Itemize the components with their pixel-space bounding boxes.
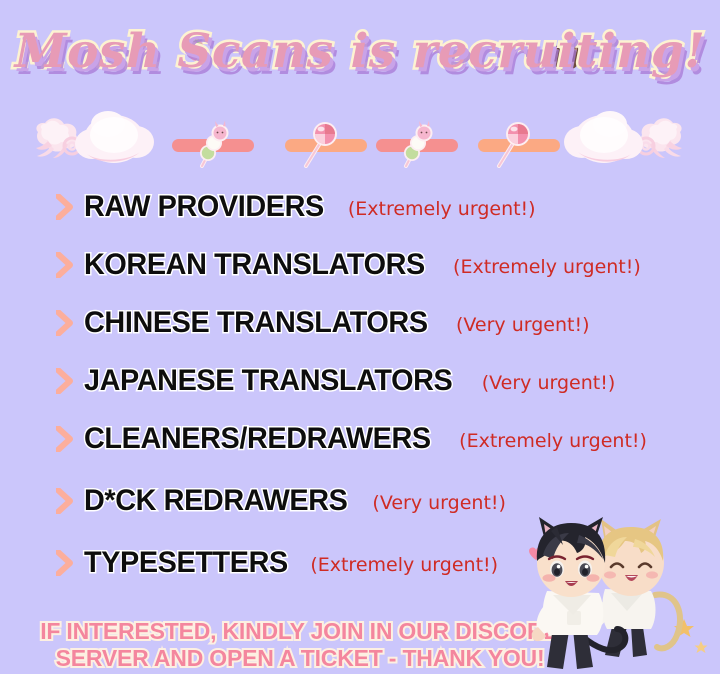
role-urgency: (Extremely urgent!)	[453, 256, 641, 278]
role-row[interactable]: D*CK REDRAWERS (Very urgent!)	[56, 480, 506, 522]
lollipop-icon	[298, 118, 342, 168]
role-label: CHINESE TRANSLATORS	[84, 306, 428, 340]
chevron-right-icon	[56, 252, 74, 278]
page-title: Mosh Scans is recruiting!	[0, 14, 720, 90]
chevron-right-icon	[56, 426, 74, 452]
role-urgency: (Very urgent!)	[372, 492, 506, 514]
recruitment-poster: Mosh Scans is recruiting!	[0, 0, 720, 674]
role-row[interactable]: JAPANESE TRANSLATORS (Very urgent!)	[56, 360, 615, 402]
role-row[interactable]: CLEANERS/REDRAWERS (Extremely urgent!)	[56, 418, 647, 460]
dango-skewer-icon	[396, 118, 440, 168]
role-label: RAW PROVIDERS	[84, 190, 324, 224]
role-urgency: (Extremely urgent!)	[348, 198, 536, 220]
role-label: KOREAN TRANSLATORS	[84, 248, 425, 282]
title-area: Mosh Scans is recruiting!	[0, 14, 720, 94]
role-label: JAPANESE TRANSLATORS	[84, 364, 452, 398]
role-row[interactable]: RAW PROVIDERS (Extremely urgent!)	[56, 186, 536, 228]
chibi-characters-illustration	[505, 515, 720, 674]
role-urgency: (Extremely urgent!)	[310, 554, 498, 576]
chevron-right-icon	[56, 488, 74, 514]
role-urgency: (Extremely urgent!)	[459, 430, 647, 452]
chevron-right-icon	[56, 194, 74, 220]
role-row[interactable]: KOREAN TRANSLATORS (Extremely urgent!)	[56, 244, 641, 286]
lollipop-icon	[491, 118, 535, 168]
role-row[interactable]: CHINESE TRANSLATORS (Very urgent!)	[56, 302, 590, 344]
role-row[interactable]: TYPESETTERS (Extremely urgent!)	[56, 542, 498, 584]
role-label: TYPESETTERS	[84, 546, 288, 580]
decorative-divider	[0, 100, 720, 172]
chevron-right-icon	[56, 550, 74, 576]
role-urgency: (Very urgent!)	[456, 314, 590, 336]
dango-skewer-icon	[192, 118, 236, 168]
chevron-right-icon	[56, 368, 74, 394]
role-label: CLEANERS/REDRAWERS	[84, 422, 431, 456]
winged-cloud-icon	[32, 102, 158, 170]
role-urgency: (Very urgent!)	[482, 372, 616, 394]
chevron-right-icon	[56, 310, 74, 336]
winged-cloud-icon	[560, 102, 686, 170]
role-label: D*CK REDRAWERS	[84, 484, 347, 518]
